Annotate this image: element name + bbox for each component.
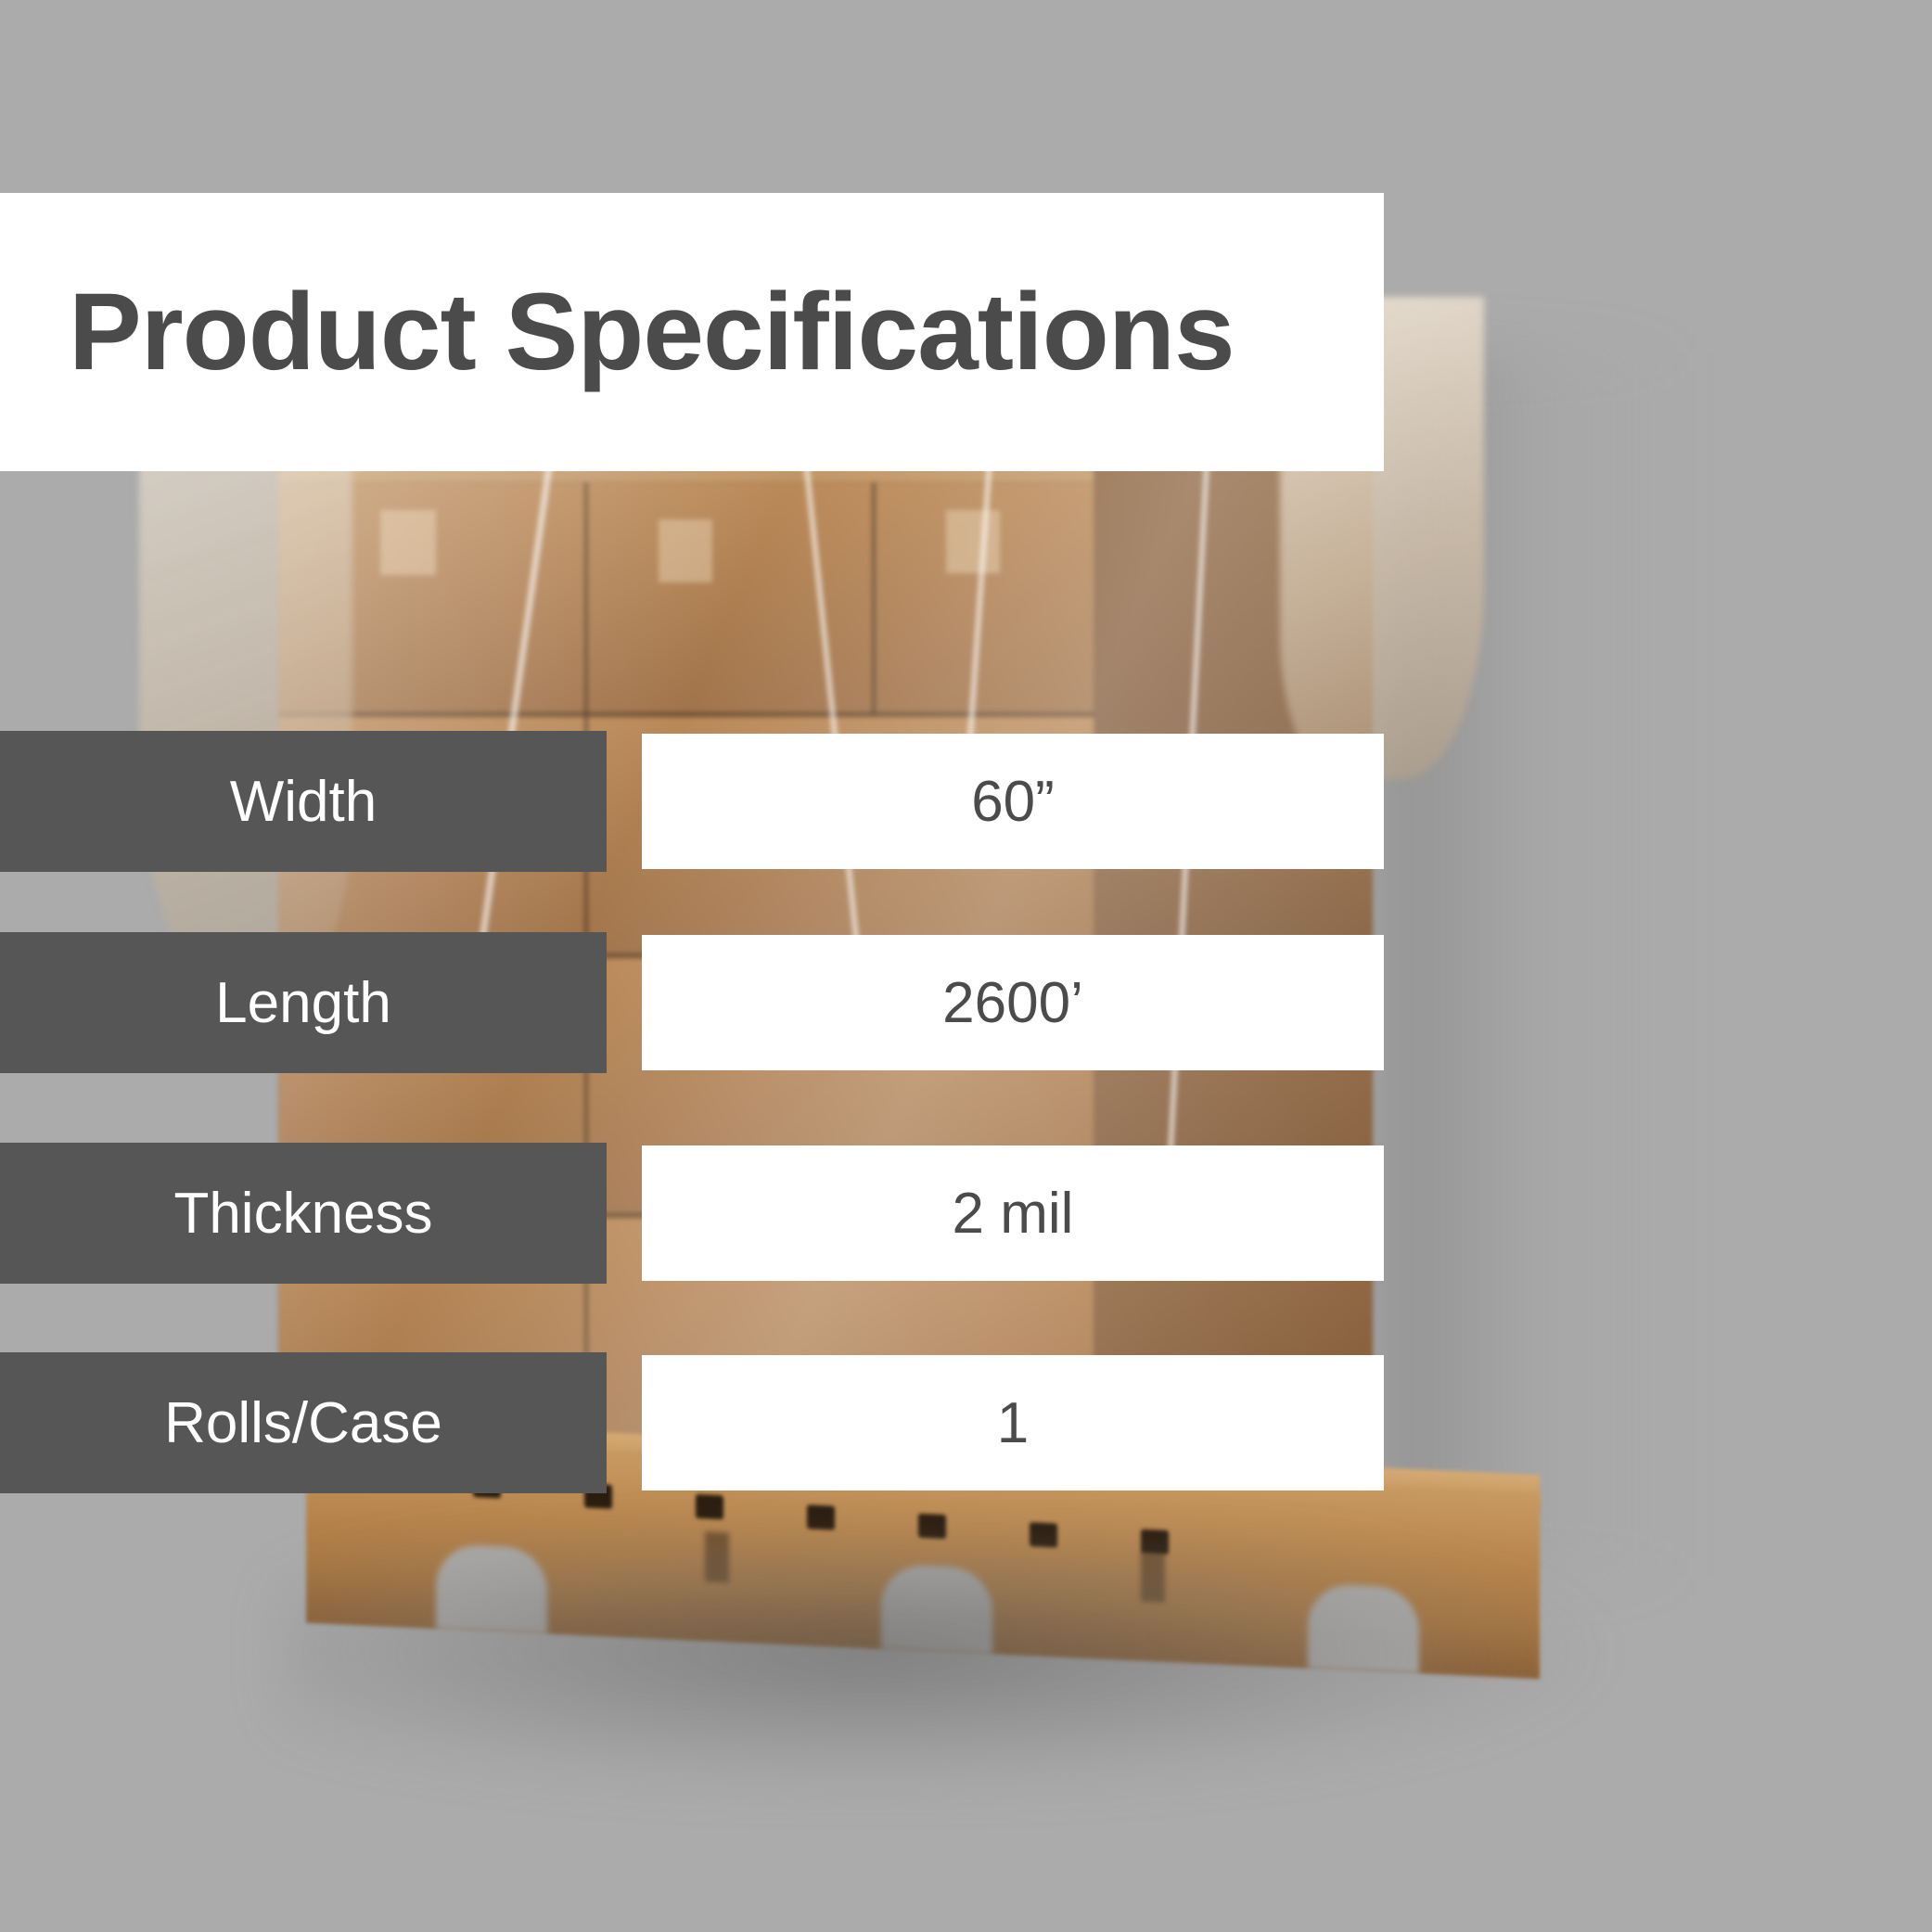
spec-label-length: Length <box>0 932 607 1073</box>
wrapped-box-stack <box>278 371 1540 1484</box>
product-specifications-card: Product Specifications Width 60” Length … <box>0 0 1932 1932</box>
spec-row-rolls-per-case: Rolls/Case 1 <box>0 1352 1384 1493</box>
title-card: Product Specifications <box>0 193 1384 471</box>
spec-label-text: Thickness <box>173 1181 432 1247</box>
spec-label-width: Width <box>0 731 607 872</box>
spec-value-width: 60” <box>642 734 1384 869</box>
spec-value-text: 60” <box>971 769 1055 835</box>
spec-row-thickness: Thickness 2 mil <box>0 1143 1384 1284</box>
spec-value-rolls-per-case: 1 <box>642 1355 1384 1491</box>
spec-label-thickness: Thickness <box>0 1143 607 1284</box>
spec-label-text: Length <box>215 970 391 1036</box>
spec-value-text: 2 mil <box>953 1181 1074 1247</box>
spec-value-thickness: 2 mil <box>642 1145 1384 1281</box>
spec-label-text: Width <box>230 769 377 835</box>
page-title: Product Specifications <box>69 269 1235 395</box>
floor-shadow <box>278 1540 1595 1790</box>
spec-value-text: 1 <box>997 1390 1029 1456</box>
spec-value-length: 2600’ <box>642 935 1384 1070</box>
spec-label-rolls-per-case: Rolls/Case <box>0 1352 607 1493</box>
spec-row-length: Length 2600’ <box>0 932 1384 1073</box>
spec-label-text: Rolls/Case <box>164 1390 442 1456</box>
spec-value-text: 2600’ <box>942 970 1083 1036</box>
spec-row-width: Width 60” <box>0 731 1384 872</box>
